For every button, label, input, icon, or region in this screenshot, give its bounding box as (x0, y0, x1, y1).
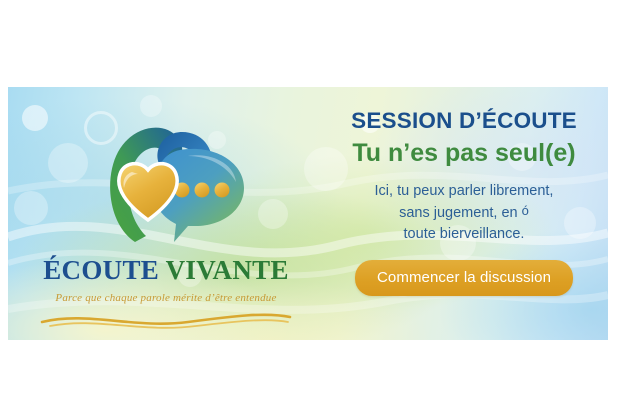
page-title: SESSION D’ÉCOUTE (328, 109, 600, 133)
banner-content: SESSION D’ÉCOUTE Tu n’es pas seul(e) Ici… (328, 109, 600, 296)
brand-logo: ÉCOUTE VIVANTE Parce que chaque parole m… (26, 102, 306, 327)
logo-tagline: Parce que chaque parole mérite d’être en… (26, 292, 306, 304)
logo-wordmark-ecoute: ÉCOUTE (43, 255, 159, 285)
body-copy-line-3: toute bierveillance. (328, 224, 600, 245)
logo-wordmark-vivante: VIVANTE (166, 255, 289, 285)
body-copy: Ici, tu peux parler librement, sans juge… (328, 181, 600, 245)
page-subtitle: Tu n’es pas seul(e) (328, 140, 600, 166)
gold-swoosh-flourish-icon (38, 309, 293, 331)
body-copy-artifact-glyph: ó (522, 203, 529, 218)
promo-banner: ÉCOUTE VIVANTE Parce que chaque parole m… (8, 87, 608, 340)
body-copy-line-2: sans jugement, en ó (328, 202, 600, 224)
page-root: ÉCOUTE VIVANTE Parce que chaque parole m… (0, 0, 618, 412)
logo-wordmark: ÉCOUTE VIVANTE (26, 257, 306, 284)
heart-speech-bubble-icon (88, 104, 248, 254)
body-copy-line-1: Ici, tu peux parler librement, (328, 181, 600, 202)
start-discussion-button[interactable]: Commencer la discussion (355, 260, 573, 296)
body-copy-line-2-text: sans jugement, en (399, 205, 518, 221)
